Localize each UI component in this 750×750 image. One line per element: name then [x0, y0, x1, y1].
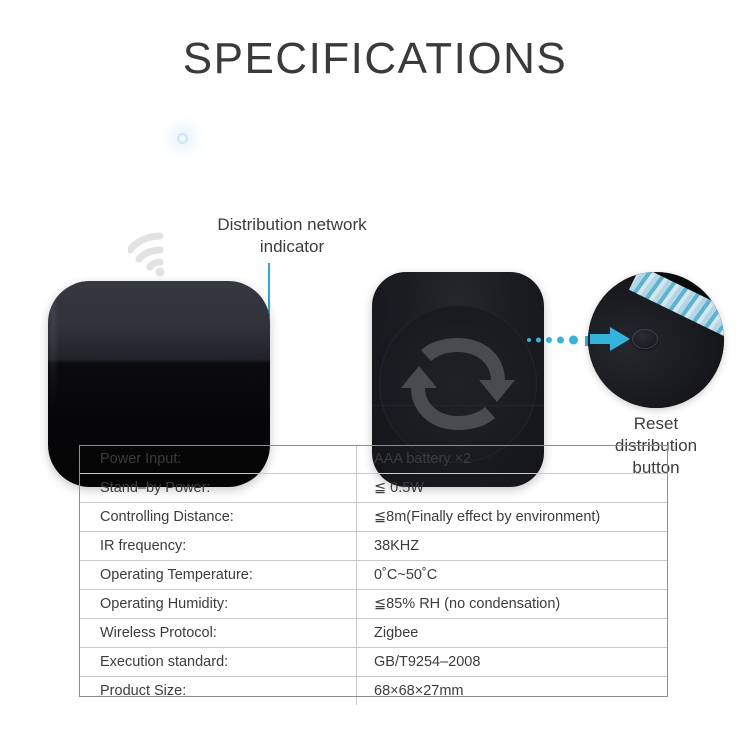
callout-indicator-line1: Distribution network: [186, 214, 398, 236]
spec-label: IR frequency:: [79, 532, 357, 561]
product-illustration-area: Distribution network indicator: [0, 100, 750, 410]
spec-value: Zigbee: [357, 619, 669, 648]
spec-value: 38KHZ: [357, 532, 669, 561]
spec-label: Product Size:: [79, 677, 357, 706]
table-row: IR frequency:38KHZ: [79, 532, 668, 561]
sync-arrows-icon: [397, 324, 519, 444]
device-gloss-reflection: [48, 281, 270, 363]
spec-value: ≦8m(Finally effect by environment): [357, 503, 669, 532]
table-row: Operating Temperature:0˚C~50˚C: [79, 561, 668, 590]
table-row: Wireless Protocol:Zigbee: [79, 619, 668, 648]
spec-value: ≦85% RH (no condensation): [357, 590, 669, 619]
table-row: Power Input:AAA battery ×2: [79, 445, 668, 474]
spec-label: Controlling Distance:: [79, 503, 357, 532]
spec-value: ≦ 0.5W: [357, 474, 669, 503]
reset-button-closeup: [632, 329, 658, 349]
spec-value: 68×68×27mm: [357, 677, 669, 706]
device-edge-highlight: [50, 295, 56, 415]
dotted-connector: [527, 333, 587, 347]
spec-label: Operating Humidity:: [79, 590, 357, 619]
led-indicator-dot: [177, 133, 188, 144]
callout-reset-line1: Reset: [586, 413, 726, 435]
spec-label: Execution standard:: [79, 648, 357, 677]
spec-value: 0˚C~50˚C: [357, 561, 669, 590]
spec-value: GB/T9254–2008: [357, 648, 669, 677]
spec-label: Power Input:: [79, 445, 357, 474]
inset-pointer-arrow-icon: [590, 327, 630, 351]
spec-label: Wireless Protocol:: [79, 619, 357, 648]
table-row: Controlling Distance:≦8m(Finally effect …: [79, 503, 668, 532]
page-title: SPECIFICATIONS: [0, 34, 750, 84]
callout-indicator-line2: indicator: [186, 236, 398, 258]
specifications-table: Power Input:AAA battery ×2Stand–by Power…: [79, 445, 668, 705]
spec-value: AAA battery ×2: [357, 445, 669, 474]
spec-label: Operating Temperature:: [79, 561, 357, 590]
magnified-inset-circle: [588, 272, 724, 408]
table-row: Execution standard:GB/T9254–2008: [79, 648, 668, 677]
table-row: Product Size:68×68×27mm: [79, 677, 668, 706]
callout-distribution-network-indicator: Distribution network indicator: [186, 214, 398, 258]
wifi-icon: [128, 226, 192, 278]
table-row: Operating Humidity:≦85% RH (no condensat…: [79, 590, 668, 619]
table-row: Stand–by Power:≦ 0.5W: [79, 474, 668, 503]
spec-label: Stand–by Power:: [79, 474, 357, 503]
